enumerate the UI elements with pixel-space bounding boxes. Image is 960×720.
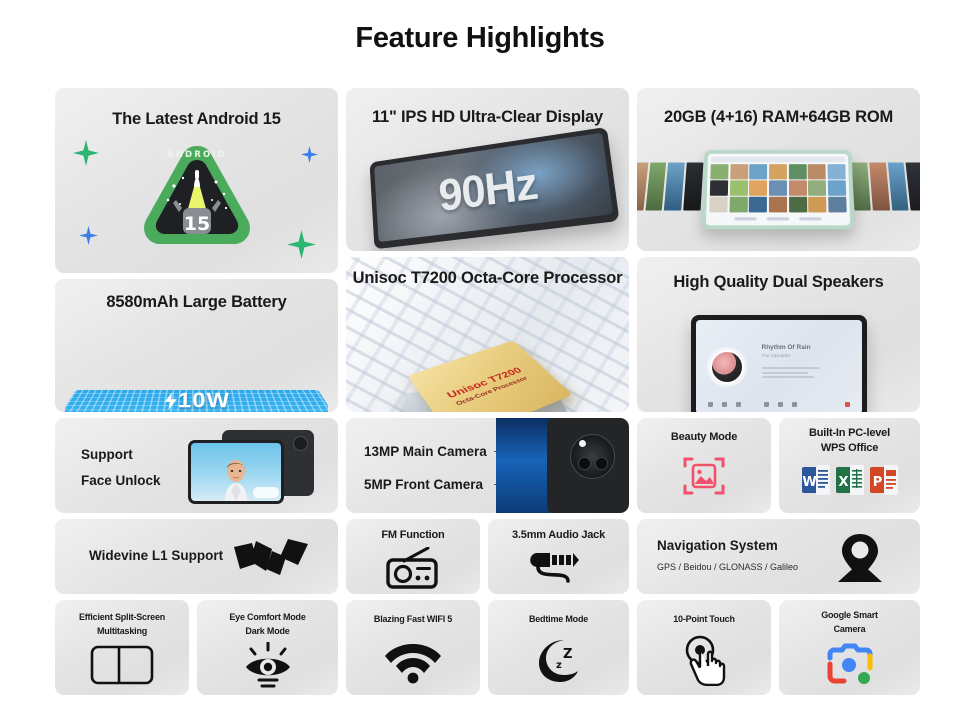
card-face-unlock[interactable]: Support Face Unlock xyxy=(55,418,338,513)
svg-text:Z: Z xyxy=(563,647,572,662)
device-back-panel xyxy=(547,418,629,513)
card-beauty-mode[interactable]: Beauty Mode xyxy=(637,418,771,513)
card-eye-title-line2: Dark Mode xyxy=(197,626,338,636)
card-widevine[interactable]: Widevine L1 Support xyxy=(55,519,338,594)
card-wps-title-line2: WPS Office xyxy=(779,442,920,454)
card-split-screen[interactable]: Efficient Split-Screen Multitasking xyxy=(55,600,189,695)
feature-highlights-page: Feature Highlights The Latest Android 15 xyxy=(0,0,960,720)
card-memory-title: 20GB (4+16) RAM+64GB ROM xyxy=(637,108,920,127)
cloud-decor xyxy=(253,487,279,498)
play-icon xyxy=(722,402,727,407)
card-bedtime-title: Bedtime Mode xyxy=(488,614,629,624)
card-face-unlock-title: Support Face Unlock xyxy=(81,442,161,493)
card-split-title-line2: Multitasking xyxy=(55,626,189,636)
rear-camera-icon xyxy=(293,436,308,451)
touch-hand-icon xyxy=(637,634,771,686)
office-app-icons: W X P xyxy=(779,464,920,496)
map-pin-icon xyxy=(832,532,888,587)
svg-text:ANDROID: ANDROID xyxy=(166,150,226,160)
radio-icon xyxy=(346,547,480,589)
tablet-gallery xyxy=(702,150,855,229)
gallery-search-bar xyxy=(711,157,845,163)
card-navigation-title: Navigation System xyxy=(657,538,778,553)
card-wifi-title: Blazing Fast WIFI 5 xyxy=(346,614,480,624)
card-audio-jack[interactable]: 3.5mm Audio Jack xyxy=(488,519,629,594)
card-bedtime[interactable]: Bedtime Mode Z z xyxy=(488,600,629,695)
card-navigation-subtitle: GPS / Beidou / GLONASS / Galileo xyxy=(657,562,798,572)
card-fm-title: FM Function xyxy=(346,529,480,541)
next-icon xyxy=(736,402,741,407)
card-wps-title-line1: Built-In PC-level xyxy=(779,427,920,439)
card-eye-comfort[interactable]: Eye Comfort Mode Dark Mode xyxy=(197,600,338,695)
card-navigation[interactable]: Navigation System GPS / Beidou / GLONASS… xyxy=(637,519,920,594)
tablet-90hz: 90Hz xyxy=(370,127,620,249)
card-android-title: The Latest Android 15 xyxy=(55,110,338,129)
sparkle-green-icon xyxy=(73,140,99,171)
card-beauty-title: Beauty Mode xyxy=(637,431,771,443)
sparkle-green-small-icon xyxy=(287,230,316,264)
tablet-screen: 90Hz xyxy=(374,133,613,242)
widevine-logo-icon xyxy=(232,539,310,582)
sparkle-blue-icon xyxy=(301,146,318,168)
gallery-tabs xyxy=(709,214,847,222)
tablet-music-player: Rhythm Of Rain The Cascades xyxy=(691,315,867,412)
card-wps-office[interactable]: Built-In PC-level WPS Office W X P xyxy=(779,418,920,513)
card-memory[interactable]: 20GB (4+16) RAM+64GB ROM xyxy=(637,88,920,251)
front-camera-label: 5MP Front Camera xyxy=(364,477,483,492)
tablet-front xyxy=(188,440,284,504)
card-speakers[interactable]: High Quality Dual Speakers Rhythm Of Rai… xyxy=(637,257,920,412)
card-google-lens[interactable]: Google Smart Camera xyxy=(779,600,920,695)
face-unlock-screen xyxy=(191,443,281,501)
gallery-thumbnails xyxy=(709,164,846,212)
lens-2 xyxy=(595,457,608,470)
refresh-rate-text: 90Hz xyxy=(437,160,539,217)
card-processor-title: Unisoc T7200 Octa-Core Processor xyxy=(346,269,629,288)
card-widevine-title: Widevine L1 Support xyxy=(89,548,223,563)
svg-text:P: P xyxy=(872,475,882,490)
list-icon xyxy=(792,402,797,407)
favorite-icon xyxy=(845,402,850,407)
card-battery[interactable]: 8580mAh Large Battery 10W 8580 mAh xyxy=(55,279,338,412)
card-cameras[interactable]: 13MP Main Camera 5MP Front Camera xyxy=(346,418,629,513)
audio-jack-icon xyxy=(488,547,629,587)
card-speakers-title: High Quality Dual Speakers xyxy=(637,273,920,292)
song-artist: The Cascades xyxy=(762,353,791,358)
camera-module xyxy=(570,434,615,479)
battery-capacity: 8580 xyxy=(138,411,254,412)
bedtime-moon-icon: Z z xyxy=(488,636,629,684)
card-processor[interactable]: Unisoc T7200 Octa-Core Processor Unisoc … xyxy=(346,257,629,412)
card-eye-title-line1: Eye Comfort Mode xyxy=(197,612,338,622)
card-display-title: 11" IPS HD Ultra-Clear Display xyxy=(346,108,629,127)
card-touch-title: 10-Point Touch xyxy=(637,614,771,624)
svg-text:X: X xyxy=(838,475,848,490)
eye-comfort-icon xyxy=(197,642,338,690)
shuffle-icon xyxy=(764,402,769,407)
song-title: Rhythm Of Rain xyxy=(762,344,811,351)
card-split-title-line1: Efficient Split-Screen xyxy=(55,612,189,622)
tablet-camera-device xyxy=(496,418,629,513)
card-audio-jack-title: 3.5mm Audio Jack xyxy=(488,529,629,541)
repeat-icon xyxy=(778,402,783,407)
device-screen-edge xyxy=(496,418,554,513)
svg-text:W: W xyxy=(802,475,816,490)
lens-1 xyxy=(578,457,591,470)
excel-icon: X xyxy=(835,464,865,496)
svg-text:15: 15 xyxy=(183,213,209,235)
card-lens-title-line1: Google Smart xyxy=(779,610,920,620)
battery-visual: 10W 8580 mAh xyxy=(65,327,328,412)
split-screen-icon xyxy=(55,645,189,685)
prev-icon xyxy=(708,402,713,407)
player-controls[interactable] xyxy=(708,402,850,407)
word-icon: W xyxy=(801,464,831,496)
powerpoint-icon: P xyxy=(869,464,899,496)
main-camera-label: 13MP Main Camera xyxy=(364,444,487,459)
flash-icon xyxy=(579,440,586,447)
charge-wattage: 10W xyxy=(163,389,231,412)
card-touch[interactable]: 10-Point Touch xyxy=(637,600,771,695)
android-badge: 15 ANDROID xyxy=(138,142,256,254)
feature-grid: The Latest Android 15 xyxy=(0,0,960,720)
face-title-line1: Support xyxy=(81,442,161,468)
card-android[interactable]: The Latest Android 15 xyxy=(55,88,338,273)
beauty-mode-icon xyxy=(637,454,771,498)
card-battery-title: 8580mAh Large Battery xyxy=(55,293,338,312)
svg-text:z: z xyxy=(556,660,562,671)
card-wifi[interactable]: Blazing Fast WIFI 5 xyxy=(346,600,480,695)
card-fm[interactable]: FM Function xyxy=(346,519,480,594)
card-display[interactable]: 11" IPS HD Ultra-Clear Display 90Hz xyxy=(346,88,629,251)
music-player-screen: Rhythm Of Rain The Cascades xyxy=(696,320,862,412)
face-illustration xyxy=(219,457,253,501)
wifi-icon xyxy=(346,638,480,684)
google-lens-icon xyxy=(779,642,920,688)
lyrics-lines xyxy=(762,367,820,378)
face-title-line2: Face Unlock xyxy=(81,468,161,494)
album-art xyxy=(710,350,744,384)
card-lens-title-line2: Camera xyxy=(779,624,920,634)
sparkle-blue-small-icon xyxy=(79,226,98,250)
gallery-screen xyxy=(706,154,850,225)
